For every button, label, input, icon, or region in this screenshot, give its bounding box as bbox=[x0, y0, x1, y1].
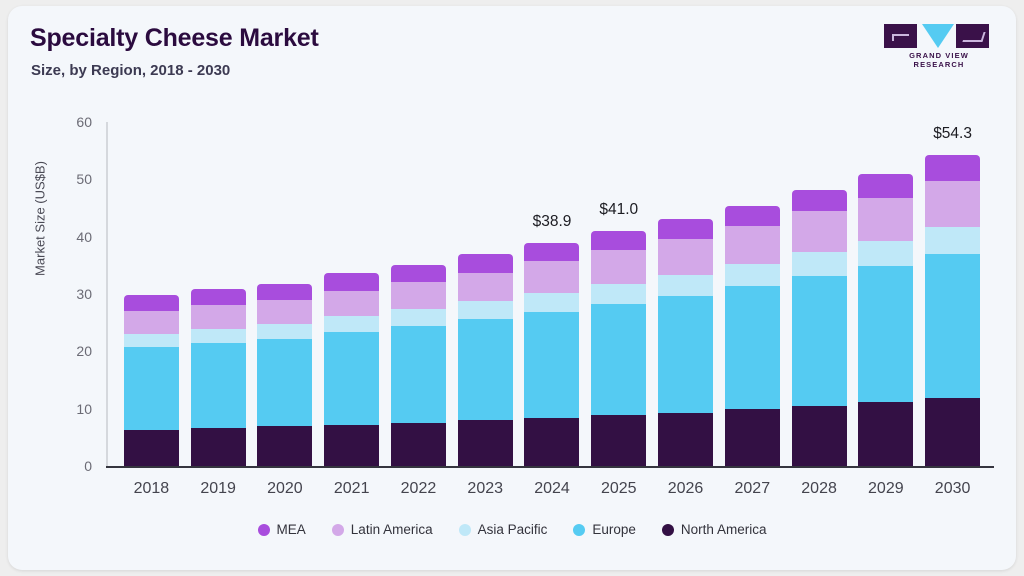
bar-segment-north-america[interactable] bbox=[792, 406, 847, 466]
bar-stack[interactable] bbox=[124, 295, 179, 466]
y-axis-tick-0: 0 bbox=[52, 458, 92, 474]
bar-segment-mea[interactable] bbox=[591, 231, 646, 250]
bar-segment-asia-pacific[interactable] bbox=[792, 252, 847, 276]
bar-segment-latin-america[interactable] bbox=[324, 291, 379, 316]
bar-segment-latin-america[interactable] bbox=[591, 250, 646, 284]
bar-segment-asia-pacific[interactable] bbox=[391, 309, 446, 326]
bar-segment-europe[interactable] bbox=[725, 286, 780, 409]
bar-stack[interactable] bbox=[858, 174, 913, 466]
bar-segment-latin-america[interactable] bbox=[124, 311, 179, 333]
legend-swatch-icon bbox=[662, 524, 674, 536]
bar-segment-mea[interactable] bbox=[191, 289, 246, 305]
bar-segment-asia-pacific[interactable] bbox=[725, 264, 780, 286]
bar-segment-europe[interactable] bbox=[524, 312, 579, 419]
bar-segment-europe[interactable] bbox=[257, 339, 312, 426]
bar-value-label-2030: $54.3 bbox=[908, 125, 998, 143]
legend-label: MEA bbox=[277, 522, 306, 537]
bar-segment-latin-america[interactable] bbox=[458, 273, 513, 302]
legend-item-north-america[interactable]: North America bbox=[662, 522, 767, 537]
bar-segment-latin-america[interactable] bbox=[391, 282, 446, 309]
legend-label: North America bbox=[681, 522, 767, 537]
bar-stack[interactable] bbox=[725, 206, 780, 466]
bar-segment-mea[interactable] bbox=[324, 273, 379, 291]
bar-segment-europe[interactable] bbox=[591, 304, 646, 415]
bar-segment-asia-pacific[interactable] bbox=[191, 329, 246, 343]
bar-segment-latin-america[interactable] bbox=[191, 305, 246, 329]
bar-segment-mea[interactable] bbox=[858, 174, 913, 198]
y-axis-tick-50: 50 bbox=[52, 171, 92, 187]
legend-swatch-icon bbox=[573, 524, 585, 536]
bar-stack[interactable] bbox=[524, 243, 579, 466]
bar-segment-north-america[interactable] bbox=[458, 420, 513, 466]
bar-segment-mea[interactable] bbox=[458, 254, 513, 273]
bar-segment-asia-pacific[interactable] bbox=[257, 324, 312, 339]
bar-segment-north-america[interactable] bbox=[524, 418, 579, 466]
bar-segment-north-america[interactable] bbox=[925, 398, 980, 466]
bar-segment-mea[interactable] bbox=[792, 190, 847, 211]
bar-segment-north-america[interactable] bbox=[191, 428, 246, 466]
y-axis-line bbox=[106, 122, 108, 467]
bar-stack[interactable] bbox=[257, 284, 312, 466]
bar-segment-europe[interactable] bbox=[858, 266, 913, 402]
bar-segment-mea[interactable] bbox=[124, 295, 179, 311]
y-axis-tick-60: 60 bbox=[52, 114, 92, 130]
bar-segment-north-america[interactable] bbox=[257, 426, 312, 466]
bar-segment-europe[interactable] bbox=[324, 332, 379, 424]
bar-segment-north-america[interactable] bbox=[324, 425, 379, 466]
bar-segment-asia-pacific[interactable] bbox=[458, 301, 513, 319]
bar-segment-latin-america[interactable] bbox=[658, 239, 713, 275]
legend-item-mea[interactable]: MEA bbox=[258, 522, 306, 537]
legend-item-europe[interactable]: Europe bbox=[573, 522, 636, 537]
chart-card: Specialty Cheese Market Size, by Region,… bbox=[8, 6, 1016, 570]
y-axis-ticks: 0102030405060 bbox=[46, 6, 92, 570]
bar-segment-europe[interactable] bbox=[391, 326, 446, 423]
y-axis-tick-30: 30 bbox=[52, 286, 92, 302]
bar-value-label-2025: $41.0 bbox=[574, 201, 664, 219]
legend-label: Europe bbox=[592, 522, 636, 537]
bar-stack[interactable] bbox=[925, 155, 980, 466]
bar-segment-latin-america[interactable] bbox=[725, 226, 780, 264]
legend-swatch-icon bbox=[258, 524, 270, 536]
bar-segment-mea[interactable] bbox=[524, 243, 579, 261]
bar-segment-north-america[interactable] bbox=[658, 413, 713, 466]
legend-label: Asia Pacific bbox=[478, 522, 548, 537]
bar-segment-north-america[interactable] bbox=[591, 415, 646, 466]
bar-segment-europe[interactable] bbox=[658, 296, 713, 412]
bar-stack[interactable] bbox=[658, 219, 713, 466]
legend-item-latin-america[interactable]: Latin America bbox=[332, 522, 433, 537]
legend-swatch-icon bbox=[459, 524, 471, 536]
bar-segment-mea[interactable] bbox=[391, 265, 446, 282]
bar-stack[interactable] bbox=[458, 254, 513, 466]
bar-segment-europe[interactable] bbox=[124, 347, 179, 430]
stacked-bar-chart: Market Size (US$B) 0102030405060 2018201… bbox=[8, 6, 1016, 570]
bar-segment-europe[interactable] bbox=[925, 254, 980, 398]
bar-segment-europe[interactable] bbox=[792, 276, 847, 406]
bar-segment-latin-america[interactable] bbox=[858, 198, 913, 241]
bar-segment-latin-america[interactable] bbox=[524, 261, 579, 293]
bar-segment-mea[interactable] bbox=[725, 206, 780, 225]
bar-segment-mea[interactable] bbox=[925, 155, 980, 181]
chart-legend: MEALatin AmericaAsia PacificEuropeNorth … bbox=[8, 522, 1016, 537]
bar-segment-europe[interactable] bbox=[191, 343, 246, 427]
y-axis-tick-10: 10 bbox=[52, 401, 92, 417]
legend-item-asia-pacific[interactable]: Asia Pacific bbox=[459, 522, 548, 537]
bar-segment-latin-america[interactable] bbox=[792, 211, 847, 251]
bar-segment-north-america[interactable] bbox=[725, 409, 780, 466]
bar-stack[interactable] bbox=[792, 190, 847, 466]
bar-segment-asia-pacific[interactable] bbox=[524, 293, 579, 311]
bar-stack[interactable] bbox=[191, 289, 246, 466]
bar-segment-north-america[interactable] bbox=[391, 423, 446, 466]
bar-segment-north-america[interactable] bbox=[858, 402, 913, 466]
bar-segment-asia-pacific[interactable] bbox=[124, 334, 179, 347]
y-axis-tick-20: 20 bbox=[52, 343, 92, 359]
bar-segment-asia-pacific[interactable] bbox=[591, 284, 646, 305]
bar-segment-europe[interactable] bbox=[458, 319, 513, 420]
bar-segment-asia-pacific[interactable] bbox=[925, 227, 980, 254]
bar-segment-mea[interactable] bbox=[658, 219, 713, 239]
bar-stack[interactable] bbox=[324, 273, 379, 466]
x-axis-tick-2030: 2030 bbox=[908, 480, 998, 498]
bar-segment-asia-pacific[interactable] bbox=[324, 316, 379, 332]
bar-segment-mea[interactable] bbox=[257, 284, 312, 301]
bar-segment-asia-pacific[interactable] bbox=[658, 275, 713, 297]
bar-segment-asia-pacific[interactable] bbox=[858, 241, 913, 266]
legend-label: Latin America bbox=[351, 522, 433, 537]
legend-swatch-icon bbox=[332, 524, 344, 536]
bar-segment-latin-america[interactable] bbox=[925, 181, 980, 227]
bar-stack[interactable] bbox=[591, 231, 646, 466]
bar-stack[interactable] bbox=[391, 265, 446, 466]
bar-segment-north-america[interactable] bbox=[124, 430, 179, 466]
bar-segment-latin-america[interactable] bbox=[257, 300, 312, 324]
bar-group-2030[interactable]: $54.32030 bbox=[919, 6, 986, 570]
y-axis-tick-40: 40 bbox=[52, 229, 92, 245]
